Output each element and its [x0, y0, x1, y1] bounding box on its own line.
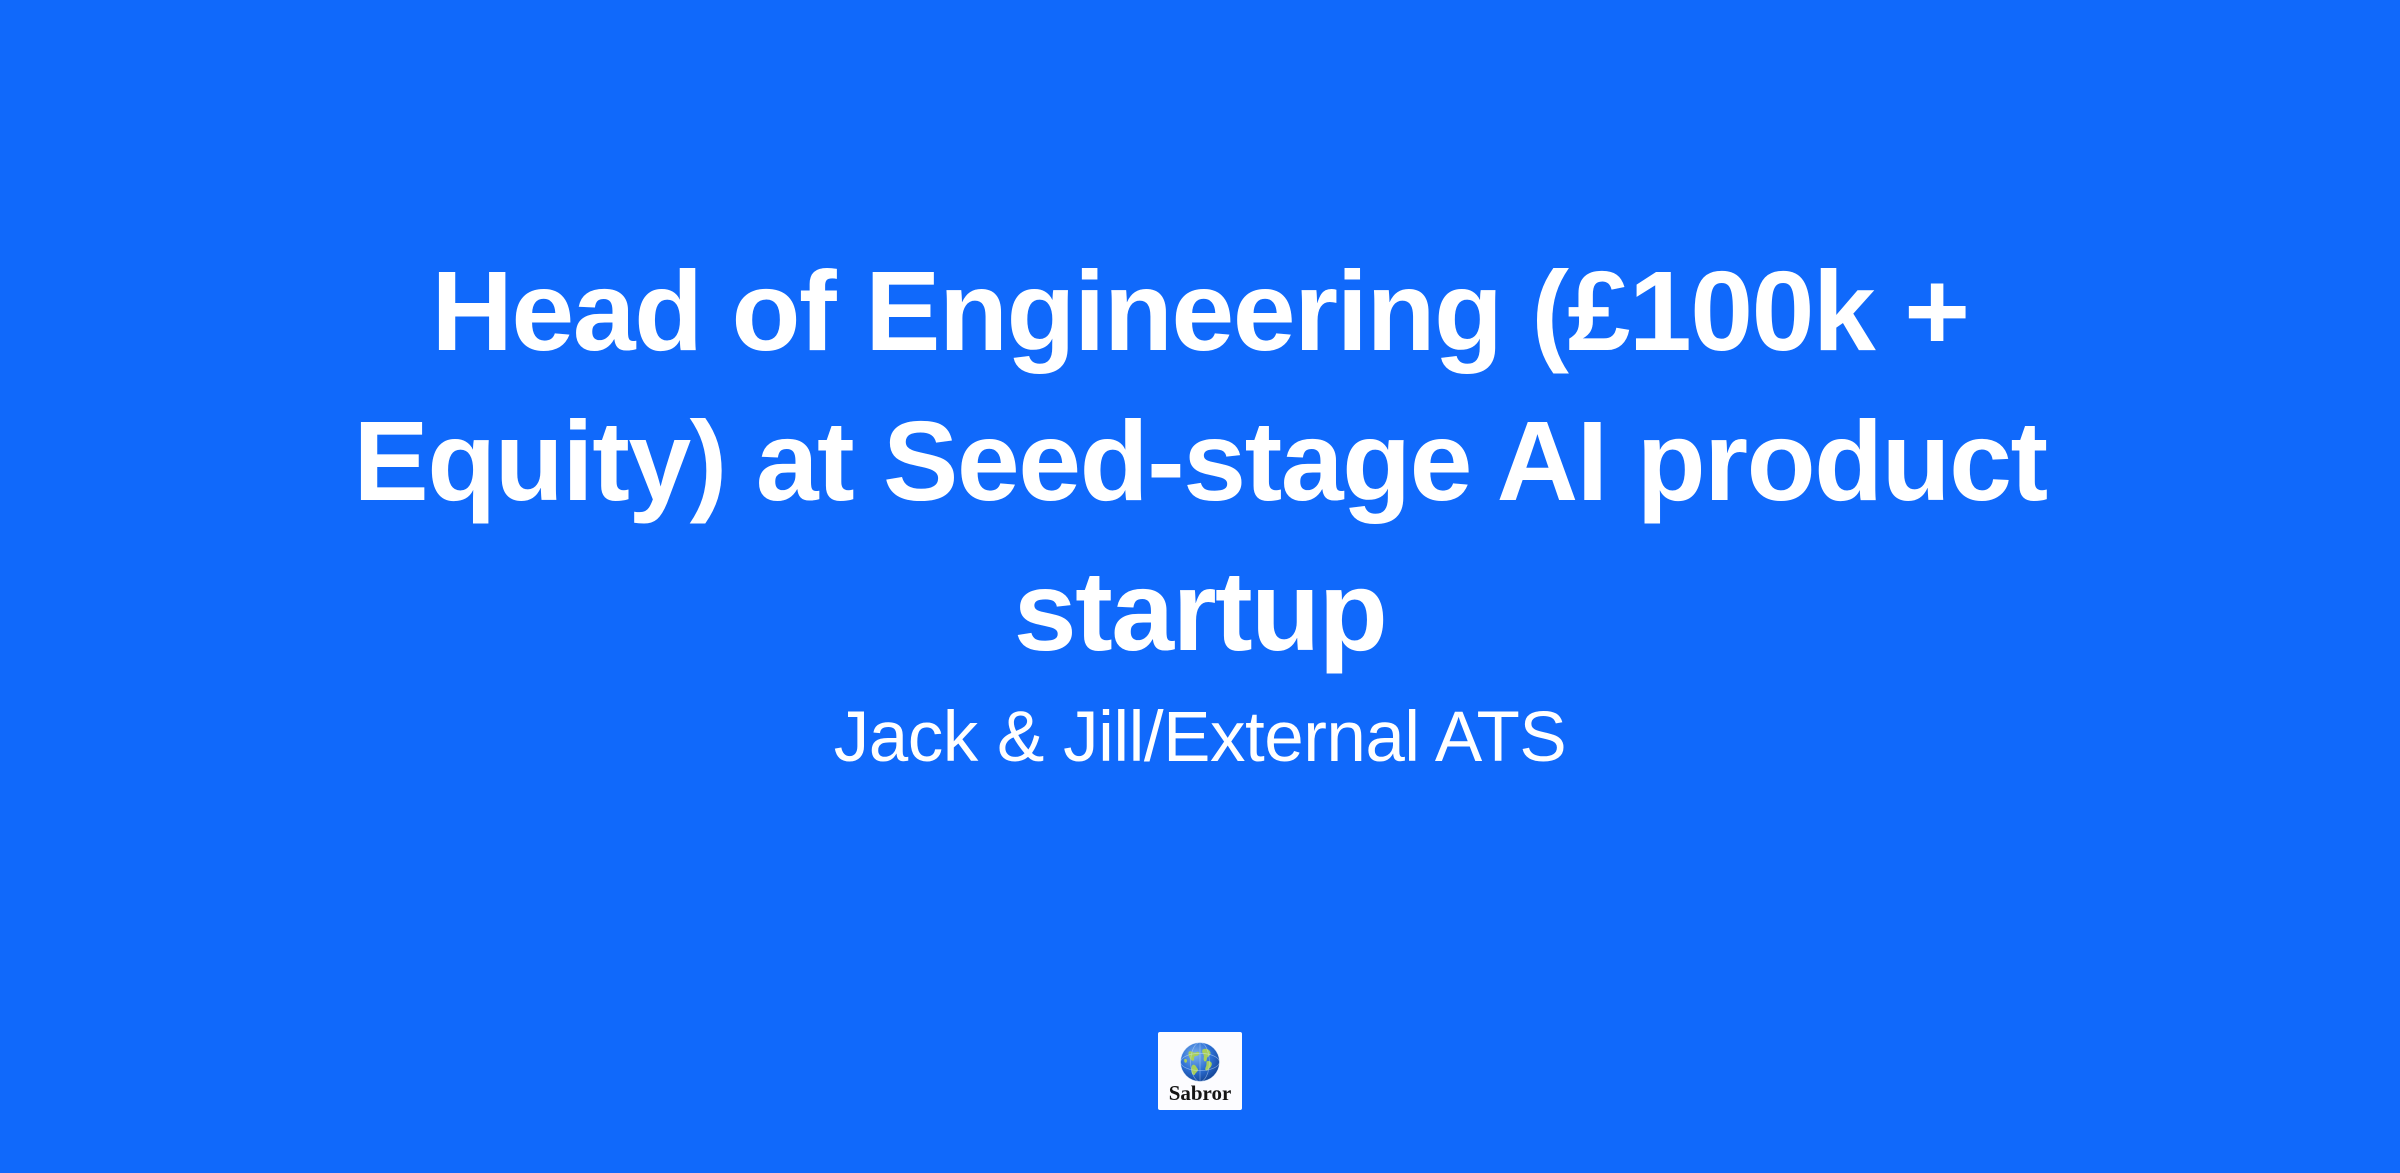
- brand-logo: Sabror: [1158, 1032, 1242, 1110]
- company-subtitle: Jack & Jill/External ATS: [654, 686, 1746, 790]
- card-text-block: Head of Engineering (£100k + Equity) at …: [0, 236, 2400, 790]
- globe-icon: [1177, 1039, 1223, 1085]
- og-share-card: Head of Engineering (£100k + Equity) at …: [0, 0, 2400, 1173]
- brand-name: Sabror: [1169, 1083, 1232, 1104]
- page-title: Head of Engineering (£100k + Equity) at …: [140, 236, 2260, 686]
